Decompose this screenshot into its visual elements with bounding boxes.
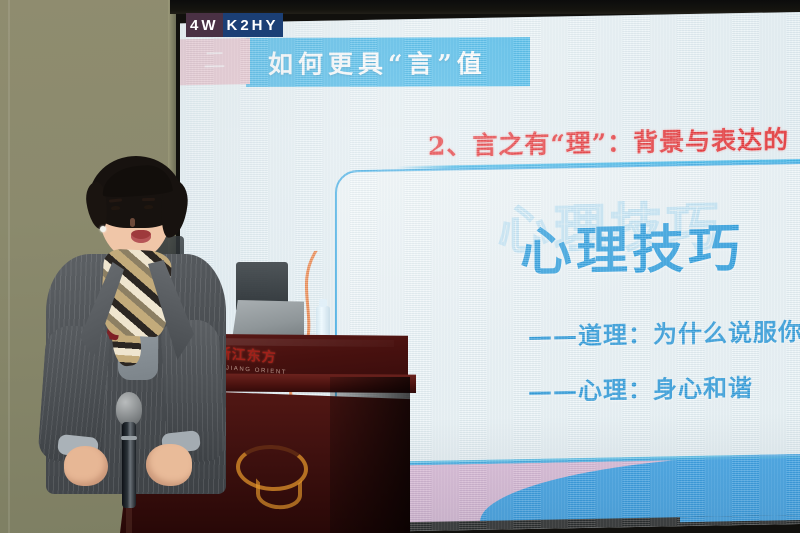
podium-shadow-right — [330, 377, 410, 533]
watermark-segment-b: K2HY — [223, 13, 283, 37]
watermark-segment-a: 4W — [186, 13, 223, 37]
watermark-text-b: K2HY — [225, 17, 281, 34]
speaker-hand-left — [64, 446, 108, 486]
slide-big-title: 心理技巧 — [520, 223, 744, 279]
speaker-nose — [130, 218, 135, 227]
microphone-body — [122, 422, 136, 508]
microphone-head — [116, 392, 142, 426]
speaker — [36, 150, 256, 533]
slide-subheading: 2、言之有“理”：背景与表达的 — [428, 120, 789, 163]
slide-header-banner: 如何更具“言”值 — [246, 37, 530, 87]
watermark-badge: 4W K2HY — [186, 13, 283, 37]
speaker-hand-right — [146, 444, 192, 486]
screenshot-root: 二 如何更具“言”值 2、言之有“理”：背景与表达的 心理技巧 心理技巧 ——道… — [0, 0, 800, 533]
slide-bullet-2: ——心理：身心和谐 — [528, 368, 753, 407]
slide-header-title: 如何更具“言”值 — [246, 44, 487, 81]
speaker-earring — [100, 226, 106, 232]
watermark-text-a: 4W — [188, 17, 221, 34]
slide-section-number-badge: 二 — [180, 38, 250, 85]
ceiling-shadow — [170, 0, 800, 14]
speaker-eyebrow-right — [142, 198, 155, 201]
speaker-eye-right — [144, 205, 153, 209]
slide-bullet-1: ——道理：为什么说服你 — [528, 312, 800, 352]
microphone-icon — [116, 392, 142, 508]
slide-section-number: 二 — [203, 51, 226, 73]
microphone-ring — [121, 436, 137, 440]
speaker-mouth — [131, 230, 151, 243]
